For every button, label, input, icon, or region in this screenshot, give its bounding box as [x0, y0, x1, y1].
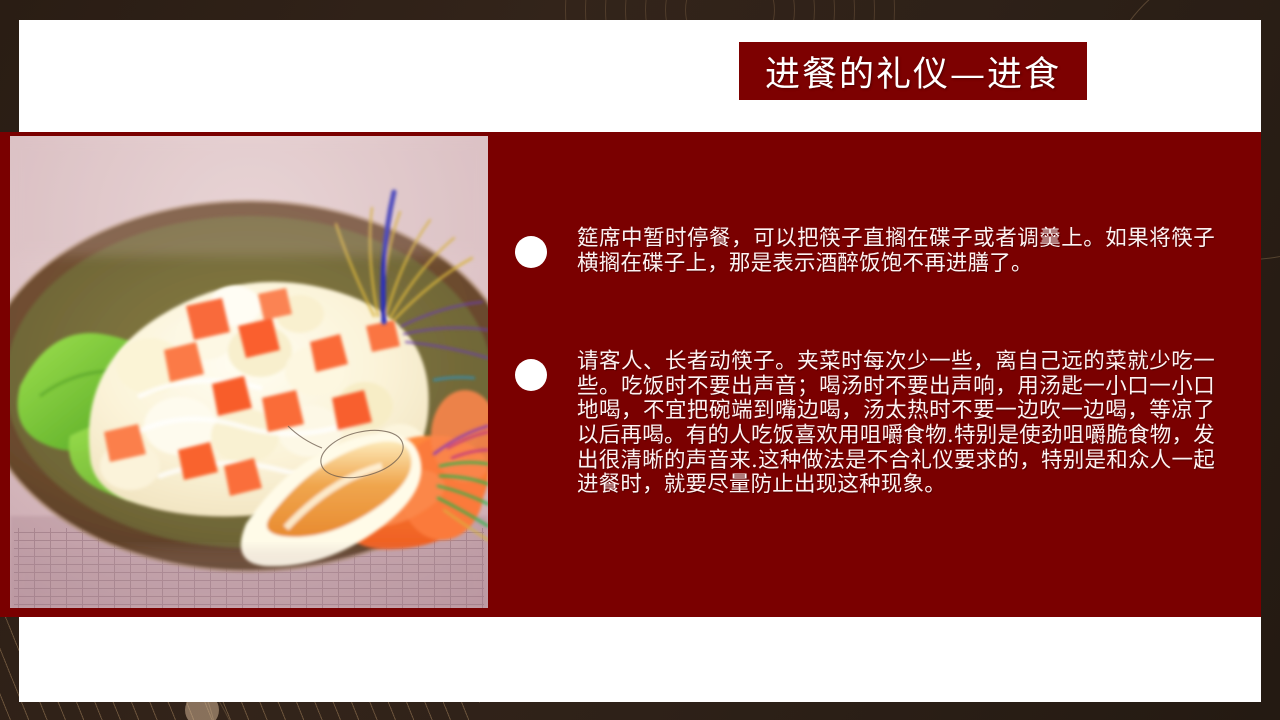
circle-bullet-icon: [515, 236, 547, 268]
slide-root: 进餐的礼仪—进食: [0, 0, 1280, 720]
salad-plate-photo: [10, 136, 488, 608]
list-item: 请客人、长者动筷子。夹菜时每次少一些，离自己远的菜就少吃一些。吃饭时不要出声音；…: [515, 350, 1215, 498]
slide-title-box: 进餐的礼仪—进食: [739, 42, 1087, 100]
photo-illustration: [10, 136, 488, 608]
content-band: 筵席中暂时停餐，可以把筷子直搁在碟子或者调羹上。如果将筷子横搁在碟子上，那是表示…: [0, 132, 1261, 617]
page-title: 进餐的礼仪—进食: [765, 46, 1061, 97]
circle-bullet-icon: [515, 359, 547, 391]
bullet-text: 筵席中暂时停餐，可以把筷子直搁在碟子或者调羹上。如果将筷子横搁在碟子上，那是表示…: [577, 227, 1215, 276]
bullet-text: 请客人、长者动筷子。夹菜时每次少一些，离自己远的菜就少吃一些。吃饭时不要出声音；…: [577, 350, 1215, 498]
bullet-list: 筵席中暂时停餐，可以把筷子直搁在碟子或者调羹上。如果将筷子横搁在碟子上，那是表示…: [515, 227, 1215, 498]
list-item: 筵席中暂时停餐，可以把筷子直搁在碟子或者调羹上。如果将筷子横搁在碟子上，那是表示…: [515, 227, 1215, 276]
